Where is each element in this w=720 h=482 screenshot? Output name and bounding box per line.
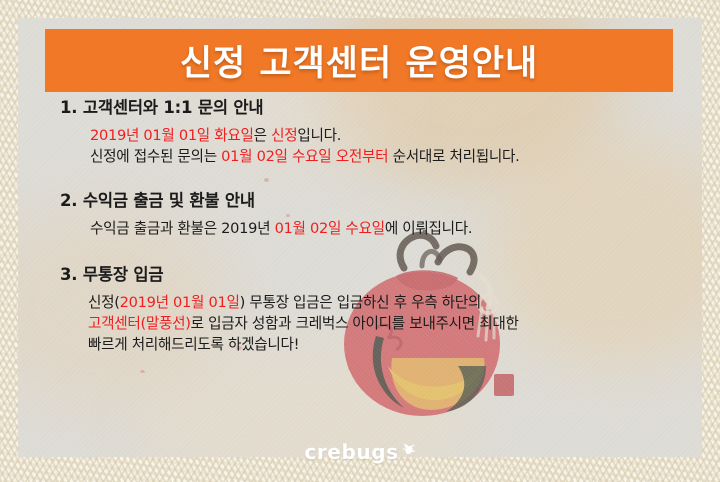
highlighted-text: 01월 02일 수요일 [275, 220, 385, 237]
body-line: 고객센터(말풍선)로 입금자 성함과 크레벅스 아이디를 보내주시면 최대한 [88, 313, 682, 334]
plain-text: 입니다. [297, 127, 341, 144]
section-bankless-deposit: 3. 무통장 입금 신정(2019년 01월 01일) 무통장 입금은 입금하신… [42, 261, 682, 355]
plain-text: ) 무통장 입금은 입금하신 후 우측 하단의 [240, 294, 481, 311]
plain-text: 수익금 출금과 환불은 2019년 [90, 220, 275, 237]
highlighted-text: 고객센터(말풍선) [88, 315, 191, 332]
section-body: 수익금 출금과 환불은 2019년 01월 02일 수요일에 이뤄집니다. [90, 218, 682, 239]
title-banner: 신정 고객센터 운영안내 [45, 29, 673, 92]
section-body: 신정(2019년 01월 01일) 무통장 입금은 입금하신 후 우측 하단의 … [88, 292, 682, 355]
highlighted-text: 2019년 01월 01일 [120, 294, 240, 311]
plain-text: 순서대로 처리됩니다. [388, 148, 519, 165]
content-area: 1. 고객센터와 1:1 문의 안내 2019년 01월 01일 화요일은 신정… [42, 94, 682, 359]
body-line: 신정(2019년 01월 01일) 무통장 입금은 입금하신 후 우측 하단의 [88, 292, 682, 313]
announcement-image: 신정 고객센터 운영안내 1. 고객센터와 1:1 문의 안내 2019년 01… [0, 0, 720, 482]
section-heading: 1. 고객센터와 1:1 문의 안내 [60, 94, 682, 118]
section-withdrawal-refund: 2. 수익금 출금 및 환불 안내 수익금 출금과 환불은 2019년 01월 … [42, 187, 682, 239]
plain-text: 신정( [88, 294, 120, 311]
page-title: 신정 고객센터 운영안내 [180, 35, 538, 86]
plain-text: 은 [254, 127, 271, 144]
body-line: 2019년 01월 01일 화요일은 신정입니다. [90, 125, 682, 146]
logo-wordmark: crebugs [304, 440, 398, 464]
section-customer-center: 1. 고객센터와 1:1 문의 안내 2019년 01월 01일 화요일은 신정… [42, 94, 682, 167]
section-body: 2019년 01월 01일 화요일은 신정입니다. 신정에 접수된 문의는 01… [90, 125, 682, 167]
highlighted-text: 01월 02일 수요일 오전부터 [221, 148, 388, 165]
section-heading: 3. 무통장 입금 [60, 261, 682, 285]
bug-icon [402, 441, 416, 460]
plain-text: 빠르게 처리해드리도록 하겠습니다! [88, 336, 299, 353]
plain-text: 로 입금자 성함과 크레벅스 아이디를 보내주시면 최대한 [191, 315, 519, 332]
plain-text: 에 이뤄집니다. [385, 220, 472, 237]
plain-text: 신정에 접수된 문의는 [90, 148, 221, 165]
section-heading: 2. 수익금 출금 및 환불 안내 [60, 187, 682, 211]
body-line: 신정에 접수된 문의는 01월 02일 수요일 오전부터 순서대로 처리됩니다. [90, 146, 682, 167]
highlighted-text: 2019년 01월 01일 화요일 [90, 127, 254, 144]
highlighted-text: 신정 [271, 127, 297, 144]
brand-logo: crebugs [0, 440, 720, 464]
body-line: 수익금 출금과 환불은 2019년 01월 02일 수요일에 이뤄집니다. [90, 218, 682, 239]
body-line: 빠르게 처리해드리도록 하겠습니다! [88, 334, 682, 355]
